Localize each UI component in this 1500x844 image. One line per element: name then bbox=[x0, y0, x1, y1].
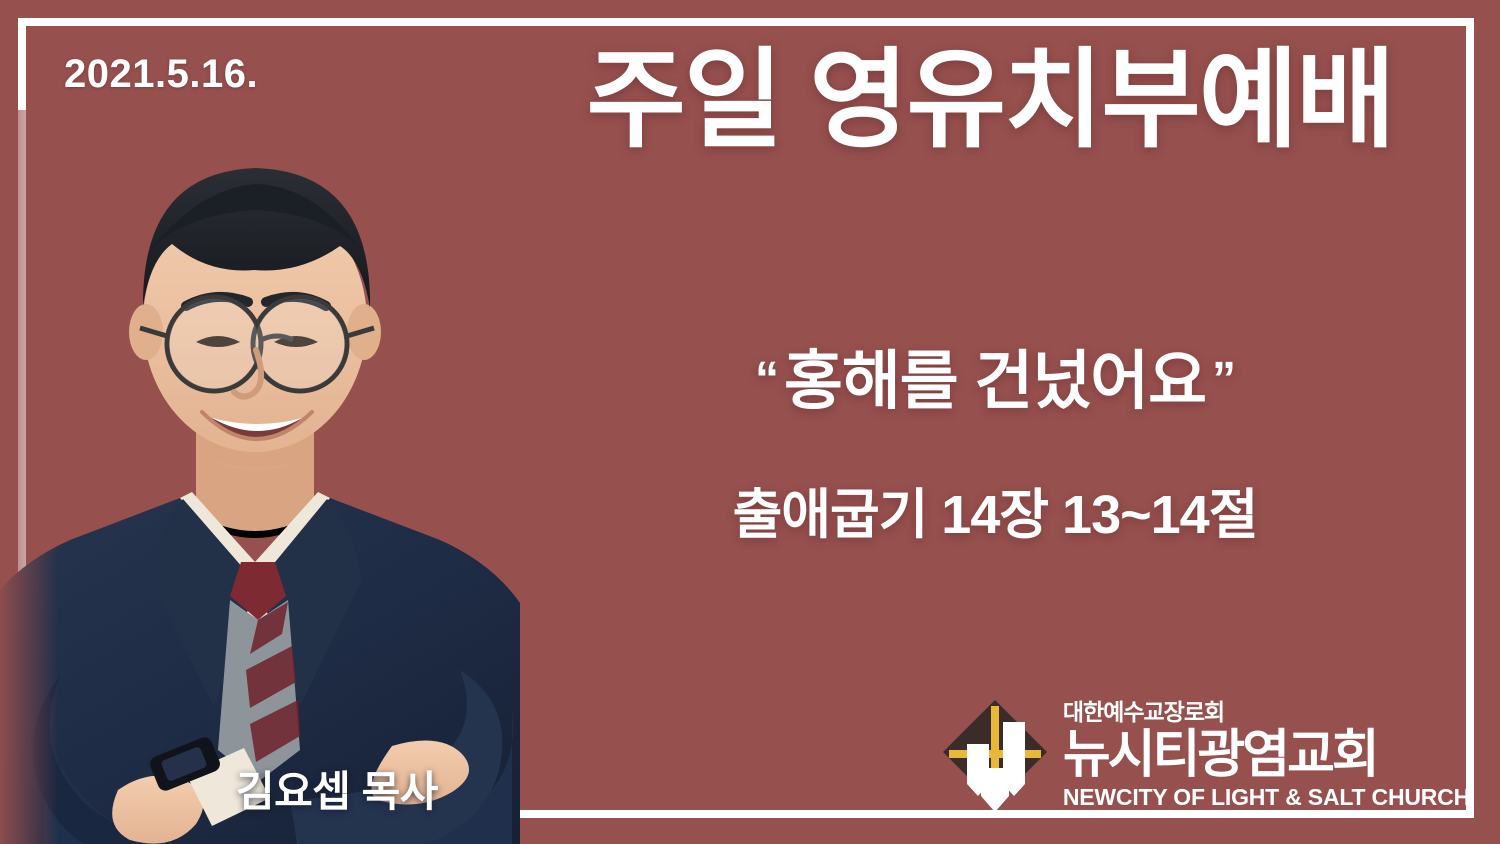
church-name-english: NEWCITY OF LIGHT & SALT CHURCH bbox=[1063, 786, 1470, 809]
church-logo-text: 대한예수교장로회 뉴시티광염교회 NEWCITY OF LIGHT & SALT… bbox=[1063, 701, 1470, 809]
sermon-title-card: 2021.5.16. 주일 영유치부예배 “홍해를 건넜어요” 출애굽기 14장… bbox=[0, 0, 1500, 844]
sermon-title-text: 홍해를 건넜어요 bbox=[784, 345, 1206, 417]
scripture-reference: 출애굽기 14장 13~14절 bbox=[520, 470, 1470, 549]
church-name-korean: 뉴시티광염교회 bbox=[1063, 729, 1470, 781]
denomination-name: 대한예수교장로회 bbox=[1063, 701, 1470, 724]
speaker-photo bbox=[0, 110, 520, 844]
page-title: 주일 영유치부예배 bbox=[520, 38, 1460, 162]
diamond-cross-church-logo-icon bbox=[939, 696, 1051, 814]
sermon-title: “홍해를 건넜어요” bbox=[520, 330, 1470, 422]
speaker-name: 김요셉 목사 bbox=[236, 758, 438, 819]
close-quote-mark: ” bbox=[1206, 353, 1241, 406]
sermon-block: “홍해를 건넜어요” 출애굽기 14장 13~14절 bbox=[520, 330, 1470, 549]
church-logo: 대한예수교장로회 뉴시티광염교회 NEWCITY OF LIGHT & SALT… bbox=[939, 696, 1470, 814]
service-date: 2021.5.16. bbox=[64, 52, 258, 97]
open-quote-mark: “ bbox=[749, 353, 784, 406]
